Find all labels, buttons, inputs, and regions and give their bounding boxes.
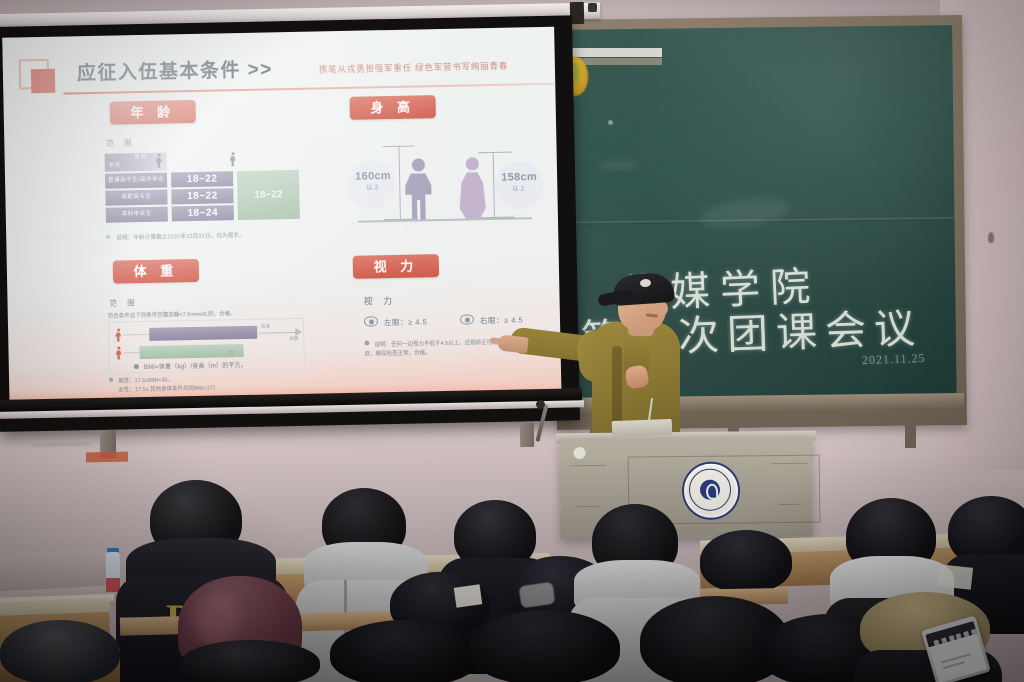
slide-title: 应征入伍基本条件 >>: [77, 54, 273, 85]
speaker-presenter: [520, 286, 700, 456]
presentation-slide: 应征入伍基本条件 >> 携笔从戎勇担强军重任 绿色军营书写绚丽青春 年 龄 范 …: [2, 27, 562, 418]
bullet-dot-icon: [364, 340, 369, 345]
roller-bracket-2: [588, 3, 597, 12]
student-front-center: [470, 610, 620, 682]
slide-header: 应征入伍基本条件 >> 携笔从戎勇担强军重任 绿色军营书写绚丽青春: [19, 53, 539, 63]
weight-female-icon: [115, 346, 121, 359]
bullet-dot-icon: [134, 364, 139, 369]
weight-bullet-1-text: 男性：17.5≤BMI<30。: [118, 377, 173, 384]
slide-subtitle: 携笔从戎勇担强军重任 绿色军营书写绚丽青春: [319, 60, 508, 76]
student-front-left: [180, 640, 320, 682]
weight-male-leader: [123, 334, 151, 336]
screen-stand-rail-2: [33, 439, 91, 446]
height-male-number: 160cm: [351, 170, 395, 183]
bmi-formula-text: BMI=体重（kg）/身高（m）的平方。: [144, 363, 247, 371]
weight-male-icon: [115, 328, 121, 341]
eye-icon-right: [460, 314, 474, 324]
weight-female-bar: [139, 344, 243, 359]
age-note-text: 说明：年龄计算截止2021年12月31日，均为周岁。: [116, 233, 245, 242]
age-male-value-0: 18~22: [171, 171, 233, 187]
student-front-far-left: [0, 620, 120, 682]
section-pill-vision: 视 力: [353, 254, 439, 279]
laptop[interactable]: [612, 419, 673, 437]
vision-label: 视 力: [363, 294, 396, 308]
weight-range-label: 范 围: [109, 297, 138, 309]
paper-sheet-2: [937, 564, 973, 589]
paper-sheet: [454, 584, 483, 607]
eye-icon-left: [364, 316, 378, 326]
age-row-label-1: 高职高专生: [105, 190, 167, 206]
weight-axis-end-label: 体重: [289, 336, 298, 342]
microphone-head: [536, 400, 545, 409]
emblem-core: [700, 480, 720, 500]
screen-stand-rail: [86, 452, 128, 463]
height-value-male: 160cm 以上: [351, 170, 395, 192]
podium-panel-left: [564, 465, 612, 508]
age-row-label-0: 普通高中生/高中毕业生: [105, 173, 167, 189]
section-pill-age: 年 龄: [110, 100, 196, 125]
weight-axis-start-label: 标准: [261, 323, 270, 329]
speaker-pointing-finger: [490, 337, 506, 344]
height-value-female: 158cm 以上: [497, 171, 541, 193]
screen-surface: 应征入伍基本条件 >> 携笔从戎勇担强军重任 绿色军营书写绚丽青春 年 龄 范 …: [2, 27, 562, 418]
podium-sticker: [574, 447, 586, 459]
height-cap-female-top: [479, 152, 513, 154]
section-pill-weight: 体 重: [113, 259, 199, 284]
weight-female-bar-label: 女: [230, 350, 235, 356]
weight-chart: 标准 体重 女 BMI=体重（kg）/身高（m）的平方。: [108, 318, 305, 374]
bullet-dot-icon: [106, 235, 110, 239]
section-pill-height: 身 高: [349, 95, 435, 120]
blackboard-date: 2021.11.25: [862, 351, 926, 368]
phone-text-line-2: [943, 661, 965, 669]
chalk-smudge-2: [600, 160, 640, 170]
header-rule: [63, 83, 555, 95]
chalk-dot: [608, 120, 613, 125]
wall-scuff-mark: [988, 232, 994, 243]
height-measure-male: [398, 146, 400, 220]
bmi-formula: BMI=体重（kg）/身高（m）的平方。: [134, 360, 247, 371]
speaker-ear: [658, 302, 668, 315]
height-female-number: 158cm: [497, 171, 541, 184]
age-range-label: 范 围: [106, 137, 135, 149]
header-square-filled-icon: [31, 69, 55, 93]
age-female-value-merged: 18~22: [237, 170, 300, 220]
vision-left-eye-value: 左眼：≥ 4.5: [384, 316, 427, 328]
projection-screen[interactable]: 应征入伍基本条件 >> 携笔从戎勇担强军重任 绿色军营书写绚丽青春 年 龄 范 …: [0, 15, 580, 432]
lecture-hall-photo: 传媒学院 第一次团课会议 2021.11.25 应征入伍基本条件 >> 携笔从戎…: [0, 0, 1024, 682]
female-figure-icon: [230, 152, 236, 166]
vision-right-eye-value: 右眼：≥ 4.5: [480, 314, 523, 326]
bullet-dot-icon: [109, 378, 113, 382]
height-female-qualifier: 以上: [497, 183, 541, 193]
age-row-label-2: 本科毕业生: [106, 207, 168, 223]
student-front-left-center: [330, 620, 480, 682]
weight-male-bar: [149, 326, 257, 341]
height-male-qualifier: 以上: [351, 182, 395, 192]
age-corner-education: 学 历: [109, 161, 121, 168]
age-note: 说明：年龄计算截止2021年12月31日，均为周岁。: [106, 231, 245, 242]
face-mask: [519, 582, 556, 609]
weight-note: 符合条件且下列条件空腹血糖<7.0mmol/L的，合格。: [108, 309, 236, 320]
age-male-value-2: 18~24: [172, 205, 234, 221]
male-figure-icon: [156, 154, 162, 168]
phone-text-line-1: [941, 653, 970, 663]
phone-screen[interactable]: [925, 621, 987, 682]
weight-axis-arrow: 标准 体重: [259, 327, 303, 338]
vision-values-row: 左眼：≥ 4.5 右眼：≥ 4.5: [364, 313, 544, 317]
age-table: 性 别 学 历 普通高中生/高中毕业生 高职高专生 本科毕业生 18~22 18…: [105, 150, 292, 224]
phone-app-icons: [933, 629, 978, 649]
height-diagram: 160cm 以上 158cm 以上: [352, 135, 536, 231]
age-corner-gender: 性 别: [135, 153, 147, 160]
age-male-value-1: 18~22: [171, 188, 233, 204]
female-silhouette: [459, 157, 486, 219]
male-silhouette: [405, 158, 432, 220]
wall-trim-strip: [566, 48, 662, 57]
blackboard-support-right: [905, 416, 916, 448]
